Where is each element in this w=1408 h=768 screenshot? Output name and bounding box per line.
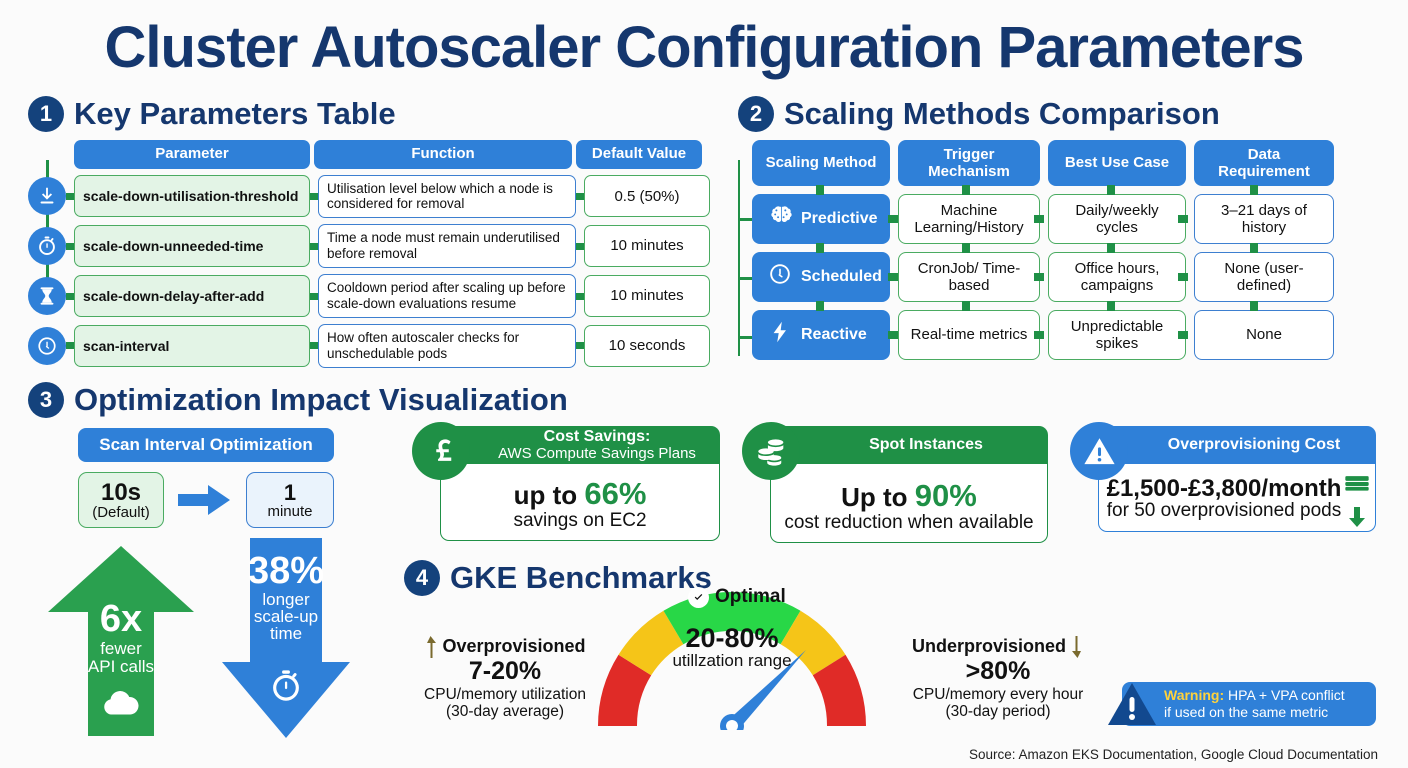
vertical-connector: [962, 243, 970, 253]
method-label: Predictive: [801, 210, 877, 228]
table-row: scale-down-unneeded-time Time a node mus…: [28, 224, 710, 268]
card-header-line1: Overprovisioning Cost: [1168, 437, 1340, 454]
optimal-label: Optimal: [715, 586, 786, 608]
trigger-mechanism: Machine Learning/History: [898, 194, 1040, 244]
parameter-name: scale-down-delay-after-add: [74, 275, 310, 317]
vertical-connector: [1250, 185, 1258, 195]
scan-to-value: 1 minute: [246, 472, 334, 528]
method-label: Reactive: [801, 326, 867, 344]
up-arrow-icon: [424, 636, 437, 658]
best-use-case: Unpredictable spikes: [1048, 310, 1186, 360]
horizontal-connector: [1034, 273, 1044, 281]
vertical-connector: [816, 243, 824, 253]
row-connector: [310, 293, 318, 300]
up-arrow-value: 6x: [48, 600, 194, 640]
underprovisioned-stat: Underprovisioned >80% CPU/memory every h…: [900, 636, 1096, 720]
stopwatch-icon: [28, 227, 66, 265]
column-header-use-case: Best Use Case: [1048, 140, 1186, 186]
overprovisioned-detail1: CPU/memory utilization: [410, 686, 600, 703]
underprovisioned-detail1: CPU/memory every hour: [900, 686, 1096, 703]
bracket-arm: [738, 277, 752, 280]
parameter-name: scan-interval: [74, 325, 310, 367]
row-connector: [66, 243, 74, 250]
section-2-header: 2 Scaling Methods Comparison: [738, 96, 1220, 132]
row-connector: [310, 243, 318, 250]
parameter-function: Cooldown period after scaling up before …: [318, 274, 576, 318]
row-connector: [576, 293, 584, 300]
vertical-connector: [1107, 185, 1115, 195]
scaling-method-row: Scheduled CronJob/ Time-based Office hou…: [752, 252, 1334, 302]
warning-line2: if used on the same metric: [1164, 704, 1328, 720]
horizontal-connector: [888, 215, 898, 223]
parameter-function: Time a node must remain underutilised be…: [318, 224, 576, 268]
underprovisioned-detail2: (30-day period): [900, 703, 1096, 720]
column-header-default: Default Value: [576, 140, 702, 169]
page-title: Cluster Autoscaler Configuration Paramet…: [0, 14, 1408, 81]
card-header-line1: Spot Instances: [869, 437, 983, 454]
key-parameters-table: Parameter Function Default Value scale-d…: [28, 140, 710, 374]
scan-from-value: 10s (Default): [78, 472, 164, 528]
card-body: up to 66% savings on EC2: [440, 464, 720, 541]
horizontal-connector: [1034, 331, 1044, 339]
method-predictive: Predictive: [752, 194, 890, 244]
method-scheduled: Scheduled: [752, 252, 890, 302]
down-arrow-icon: [1071, 636, 1084, 658]
overprovisioned-title: Overprovisioned: [442, 637, 585, 657]
stat-prefix: Up to: [841, 482, 915, 512]
method-label: Scheduled: [801, 268, 882, 286]
scaling-methods-grid: Scaling Method Trigger Mechanism Best Us…: [752, 140, 1334, 368]
scan-interval-optimization: Scan Interval Optimization 10s (Default)…: [78, 428, 334, 528]
warning-keyword: Warning:: [1164, 687, 1224, 703]
table-row: scan-interval How often autoscaler check…: [28, 324, 710, 368]
section-4-number: 4: [404, 560, 440, 596]
down-arrow-icon: [1345, 505, 1369, 529]
section-3-number: 3: [28, 382, 64, 418]
column-header-data-requirement: Data Requirement: [1194, 140, 1334, 186]
vertical-connector: [1107, 243, 1115, 253]
card-body: £1,500-£3,800/month for 50 overprovision…: [1098, 464, 1376, 532]
scan-interval-title: Scan Interval Optimization: [78, 428, 334, 462]
method-reactive: Reactive: [752, 310, 890, 360]
data-requirement: None: [1194, 310, 1334, 360]
parameter-name: scale-down-utilisation-threshold: [74, 175, 310, 217]
clock-icon: [28, 327, 66, 365]
horizontal-connector: [1178, 215, 1188, 223]
down-arrow-value: 38%: [222, 552, 350, 591]
best-use-case: Daily/weekly cycles: [1048, 194, 1186, 244]
underprovisioned-value: >80%: [900, 658, 1096, 686]
overprovisioned-stat: Overprovisioned 7-20% CPU/memory utiliza…: [410, 636, 600, 720]
row-connector: [66, 293, 74, 300]
card-stat: Up to 90%: [777, 480, 1041, 513]
row-connector: [66, 342, 74, 349]
horizontal-connector: [1034, 215, 1044, 223]
section-1-number: 1: [28, 96, 64, 132]
section-3-title: Optimization Impact Visualization: [74, 382, 568, 418]
overprovisioned-value: 7-20%: [410, 658, 600, 686]
stat-value: £1,500-£3,800/month: [1105, 476, 1369, 501]
card-header: Overprovisioning Cost: [1098, 426, 1376, 464]
overprovisioned-title-row: Overprovisioned: [410, 636, 600, 658]
source-note: Source: Amazon EKS Documentation, Google…: [969, 747, 1378, 762]
clock-icon: [768, 262, 792, 291]
column-header-function: Function: [314, 140, 572, 169]
parameter-default: 10 minutes: [584, 275, 710, 317]
hourglass-icon: [28, 277, 66, 315]
up-arrow-line1: fewer: [48, 640, 194, 658]
optimal-badge: Optimal: [688, 586, 786, 608]
left-bracket: [738, 160, 752, 356]
warning-line1: HPA + VPA conflict: [1224, 687, 1344, 703]
card-stat-sub: savings on EC2: [447, 511, 713, 532]
section-2-number: 2: [738, 96, 774, 132]
bracket-arm: [738, 336, 752, 339]
hpa-vpa-warning: Warning: HPA + VPA conflict if used on t…: [1122, 682, 1376, 726]
utilization-gauge: Optimal 20-80% utillzation range: [598, 578, 866, 730]
parameter-default: 10 minutes: [584, 225, 710, 267]
trigger-mechanism: Real-time metrics: [898, 310, 1040, 360]
card-header: Spot Instances: [770, 426, 1048, 464]
row-connector: [310, 193, 318, 200]
vertical-connector: [1107, 301, 1115, 311]
stopwatch-icon: [268, 668, 304, 704]
scan-interval-row: 10s (Default) 1 minute: [78, 472, 334, 528]
spot-instances-card: Spot Instances Up to 90% cost reduction …: [770, 426, 1048, 543]
right-arrow-icon: [178, 483, 232, 517]
card-header-line1: Cost Savings:: [498, 429, 696, 446]
trigger-mechanism: CronJob/ Time-based: [898, 252, 1040, 302]
row-connector: [66, 193, 74, 200]
down-arrow-label: 38% longer scale-up time: [222, 552, 350, 643]
data-requirement: 3–21 days of history: [1194, 194, 1334, 244]
row-connector: [310, 342, 318, 349]
warning-triangle-icon: [1106, 680, 1158, 728]
table-row: scale-down-delay-after-add Cooldown peri…: [28, 274, 710, 318]
download-arrow-icon: [28, 177, 66, 215]
card-body: Up to 90% cost reduction when available: [770, 464, 1048, 543]
overprovisioning-cost-card: Overprovisioning Cost £1,500-£3,800/mont…: [1098, 426, 1376, 532]
column-header-parameter: Parameter: [74, 140, 310, 169]
underprovisioned-title: Underprovisioned: [912, 637, 1066, 657]
vertical-connector: [962, 185, 970, 195]
horizontal-connector: [1178, 273, 1188, 281]
to-label: minute: [267, 504, 312, 520]
cloud-icon: [100, 682, 142, 724]
best-use-case: Office hours, campaigns: [1048, 252, 1186, 302]
card-stat-sub: cost reduction when available: [777, 513, 1041, 534]
card-stat-sub: for 50 overprovisioned pods: [1105, 501, 1369, 522]
vertical-connector: [816, 185, 824, 195]
horizontal-connector: [888, 331, 898, 339]
scaling-method-row: Predictive Machine Learning/History Dail…: [752, 194, 1334, 244]
longer-scale-up-arrow: 38% longer scale-up time: [222, 538, 350, 738]
down-arrow-line3: time: [222, 625, 350, 642]
section-2-title: Scaling Methods Comparison: [784, 96, 1220, 132]
money-stack-icon: [1343, 468, 1371, 496]
warning-text: Warning: HPA + VPA conflict if used on t…: [1164, 687, 1345, 720]
card-header-line2: AWS Compute Savings Plans: [498, 446, 696, 462]
coins-icon: [742, 422, 800, 480]
column-header-trigger: Trigger Mechanism: [898, 140, 1040, 186]
from-label: (Default): [92, 505, 150, 521]
card-header: Cost Savings: AWS Compute Savings Plans: [440, 426, 720, 464]
vertical-connector: [816, 301, 824, 311]
table-header-row: Parameter Function Default Value: [28, 140, 710, 169]
pound-sterling-icon: [412, 422, 470, 480]
horizontal-connector: [1178, 331, 1188, 339]
gauge-range-value: 20-80%: [598, 624, 866, 652]
grid-header-row: Scaling Method Trigger Mechanism Best Us…: [752, 140, 1334, 186]
stat-value: 66%: [584, 476, 646, 511]
vertical-connector: [962, 301, 970, 311]
section-1-header: 1 Key Parameters Table: [28, 96, 396, 132]
table-row: scale-down-utilisation-threshold Utilisa…: [28, 175, 710, 219]
parameter-function: Utilisation level below which a node is …: [318, 175, 576, 219]
row-connector: [576, 342, 584, 349]
section-3-header: 3 Optimization Impact Visualization: [28, 382, 568, 418]
down-arrow-line1: longer: [222, 591, 350, 608]
lightning-bolt-icon: [768, 320, 792, 349]
section-1-title: Key Parameters Table: [74, 96, 396, 132]
gauge-center-label: 20-80% utillzation range: [598, 624, 866, 670]
data-requirement: None (user-defined): [1194, 252, 1334, 302]
column-header-scaling-method: Scaling Method: [752, 140, 890, 186]
stat-value: 90%: [915, 478, 977, 513]
from-value: 10s: [101, 480, 141, 505]
bracket-arm: [738, 218, 752, 221]
parameter-function: How often autoscaler checks for unschedu…: [318, 324, 576, 368]
to-value: 1: [284, 481, 296, 504]
fewer-api-calls-arrow: 6x fewer API calls: [48, 546, 194, 736]
parameter-default: 10 seconds: [584, 325, 710, 367]
brain-icon: [768, 204, 792, 233]
row-connector: [576, 193, 584, 200]
cost-savings-card: Cost Savings: AWS Compute Savings Plans …: [440, 426, 720, 541]
parameter-default: 0.5 (50%): [584, 175, 710, 217]
infographic-page: Cluster Autoscaler Configuration Paramet…: [0, 0, 1408, 768]
card-stat: up to 66%: [447, 478, 713, 511]
vertical-connector: [1250, 301, 1258, 311]
up-arrow-line2: API calls: [48, 658, 194, 676]
check-icon: [688, 587, 709, 608]
horizontal-connector: [888, 273, 898, 281]
scaling-method-row: Reactive Real-time metrics Unpredictable…: [752, 310, 1334, 360]
stat-prefix: up to: [514, 480, 585, 510]
parameter-name: scale-down-unneeded-time: [74, 225, 310, 267]
row-connector: [576, 243, 584, 250]
gauge-range-label: utillzation range: [598, 652, 866, 670]
vertical-connector: [1250, 243, 1258, 253]
underprovisioned-title-row: Underprovisioned: [900, 636, 1096, 658]
overprovisioned-detail2: (30-day average): [410, 703, 600, 720]
up-arrow-label: 6x fewer API calls: [48, 600, 194, 676]
warning-triangle-icon: [1070, 422, 1128, 480]
down-arrow-line2: scale-up: [222, 608, 350, 625]
